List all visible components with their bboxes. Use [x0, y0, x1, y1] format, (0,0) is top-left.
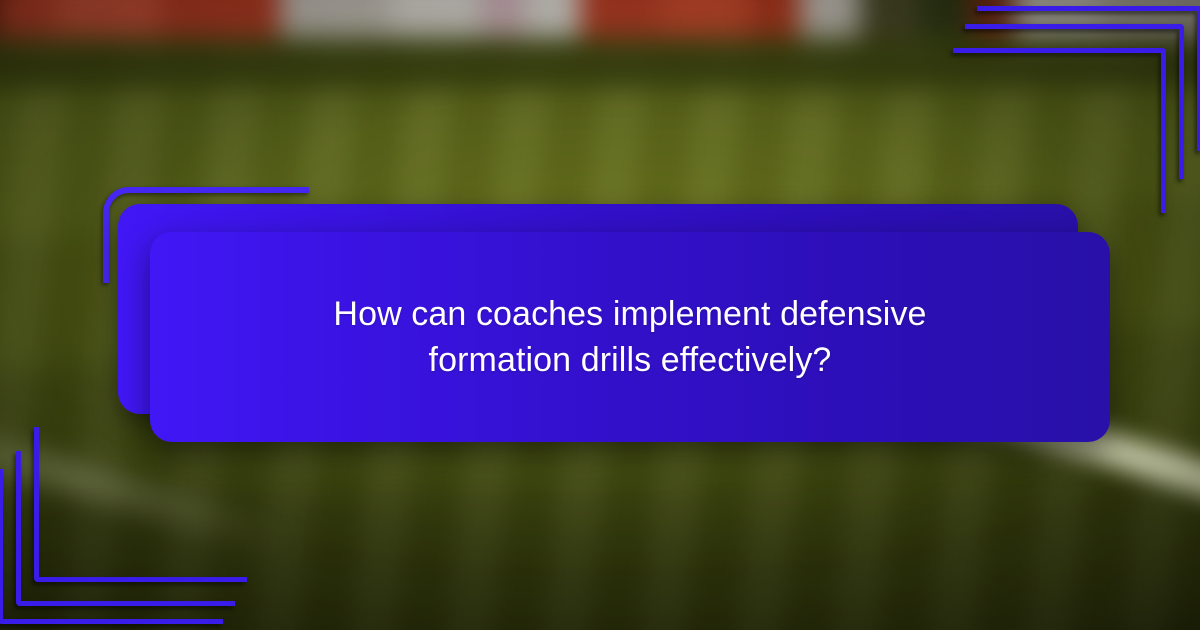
headline-card-content: How can coaches implement defensive form… [150, 232, 1110, 442]
share-card-canvas: How can coaches implement defensive form… [0, 0, 1200, 630]
corner-line-top-right-3 [953, 48, 1166, 213]
page-title: How can coaches implement defensive form… [280, 291, 980, 383]
corner-line-bottom-left-3 [34, 427, 247, 582]
